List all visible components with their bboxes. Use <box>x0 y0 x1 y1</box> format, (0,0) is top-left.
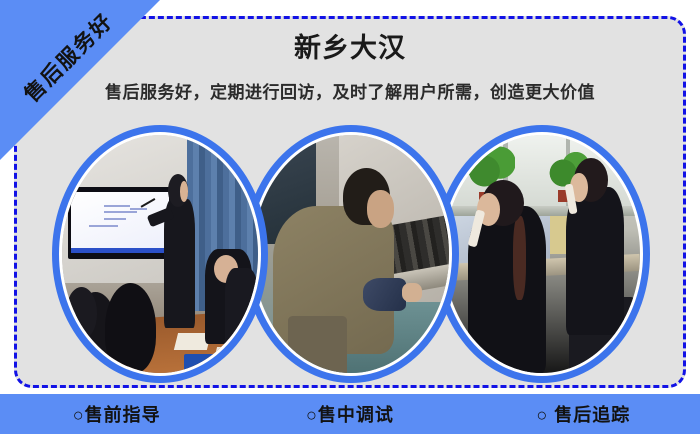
staff-ponytail <box>513 216 526 299</box>
service-step-label: 售前指导 <box>85 405 161 425</box>
technician-face <box>367 190 394 228</box>
attendee-head <box>105 283 156 373</box>
photo-circle-commissioning <box>243 125 459 383</box>
service-step-label: 售后追踪 <box>554 405 630 425</box>
staff-figure-front <box>468 206 546 373</box>
staff-figure-back <box>566 187 625 335</box>
presenter-face <box>180 181 188 202</box>
photo-phone-support <box>444 135 640 373</box>
photo-circle-phone-support <box>434 125 650 383</box>
page-subtitle: 售后服务好，定期进行回访，及时了解用户所需，创造更大价值 <box>0 78 700 103</box>
service-step-label: 售中调试 <box>318 405 394 425</box>
screen-taskbar <box>71 248 169 253</box>
photo-training-room <box>62 135 258 373</box>
service-step-commissioning[interactable]: ○售中调试 <box>233 401 466 427</box>
photo-circle-group <box>0 125 700 387</box>
photo-machine-commissioning <box>253 135 449 373</box>
page-title: 新乡大汉 <box>0 26 700 65</box>
document-page <box>213 347 249 364</box>
attendee-figure <box>225 268 258 349</box>
attendee-head <box>66 287 97 339</box>
work-glove <box>363 278 406 311</box>
service-step-presales[interactable]: ○售前指导 <box>0 401 233 427</box>
service-step-marker: ○ <box>73 405 85 425</box>
service-step-followup[interactable]: ○ 售后追踪 <box>467 401 700 427</box>
service-step-marker: ○ <box>306 405 318 425</box>
service-steps-bar: ○售前指导 ○售中调试 ○ 售后追踪 <box>0 394 700 434</box>
technician-hand <box>402 283 422 302</box>
photo-circle-training <box>52 125 268 383</box>
technician-leg <box>288 316 347 373</box>
service-step-marker: ○ <box>536 405 548 425</box>
after-sales-service-banner: 新乡大汉 售后服务好，定期进行回访，及时了解用户所需，创造更大价值 <box>0 0 700 434</box>
